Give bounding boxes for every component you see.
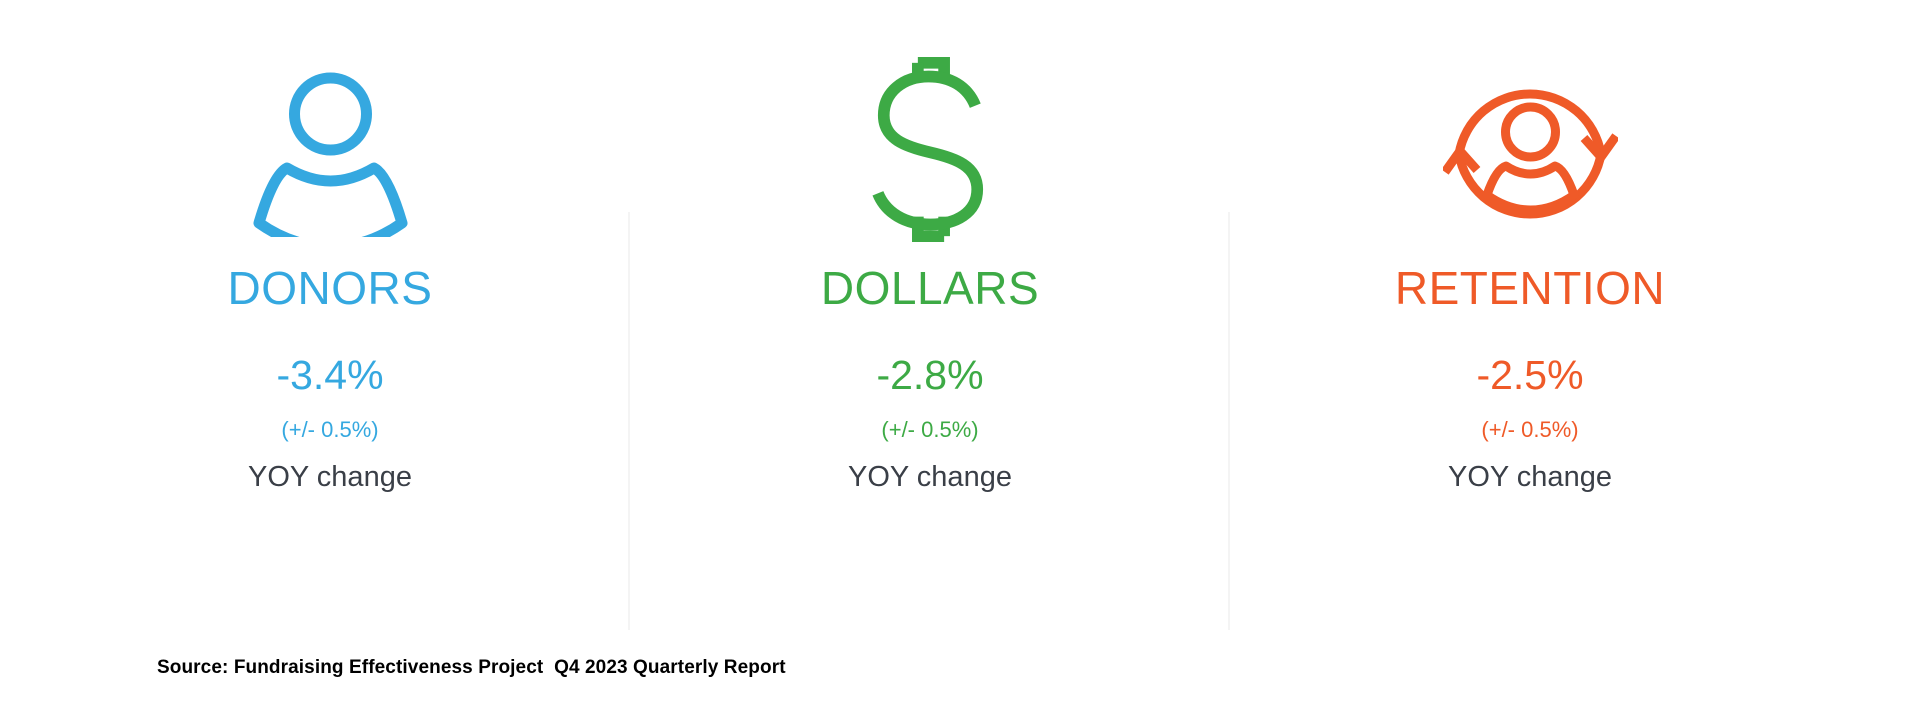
metric-margin-dollars: (+/- 0.5%) bbox=[881, 419, 978, 441]
person-icon bbox=[243, 62, 418, 237]
dollar-sign-icon bbox=[843, 62, 1018, 237]
metric-caption-dollars: YOY change bbox=[848, 463, 1012, 492]
metric-margin-retention: (+/- 0.5%) bbox=[1481, 419, 1578, 441]
metric-caption-donors: YOY change bbox=[248, 463, 412, 492]
metric-caption-retention: YOY change bbox=[1448, 463, 1612, 492]
person-retention-cycle-icon bbox=[1443, 62, 1618, 237]
infographic-canvas: DONORS -3.4% (+/- 0.5%) YOY change DOLLA… bbox=[0, 0, 1920, 727]
metric-value-donors: -3.4% bbox=[276, 355, 383, 396]
metric-card-dollars: DOLLARS -2.8% (+/- 0.5%) YOY change bbox=[630, 0, 1230, 640]
metrics-row: DONORS -3.4% (+/- 0.5%) YOY change DOLLA… bbox=[0, 0, 1920, 640]
metric-value-dollars: -2.8% bbox=[876, 355, 983, 396]
metric-label-donors: DONORS bbox=[228, 265, 433, 311]
metric-margin-donors: (+/- 0.5%) bbox=[281, 419, 378, 441]
source-note: Source: Fundraising Effectiveness Projec… bbox=[157, 657, 786, 679]
metric-card-donors: DONORS -3.4% (+/- 0.5%) YOY change bbox=[30, 0, 630, 640]
metric-label-dollars: DOLLARS bbox=[821, 265, 1039, 311]
metric-label-retention: RETENTION bbox=[1395, 265, 1665, 311]
metric-card-retention: RETENTION -2.5% (+/- 0.5%) YOY change bbox=[1230, 0, 1830, 640]
metric-value-retention: -2.5% bbox=[1476, 355, 1583, 396]
